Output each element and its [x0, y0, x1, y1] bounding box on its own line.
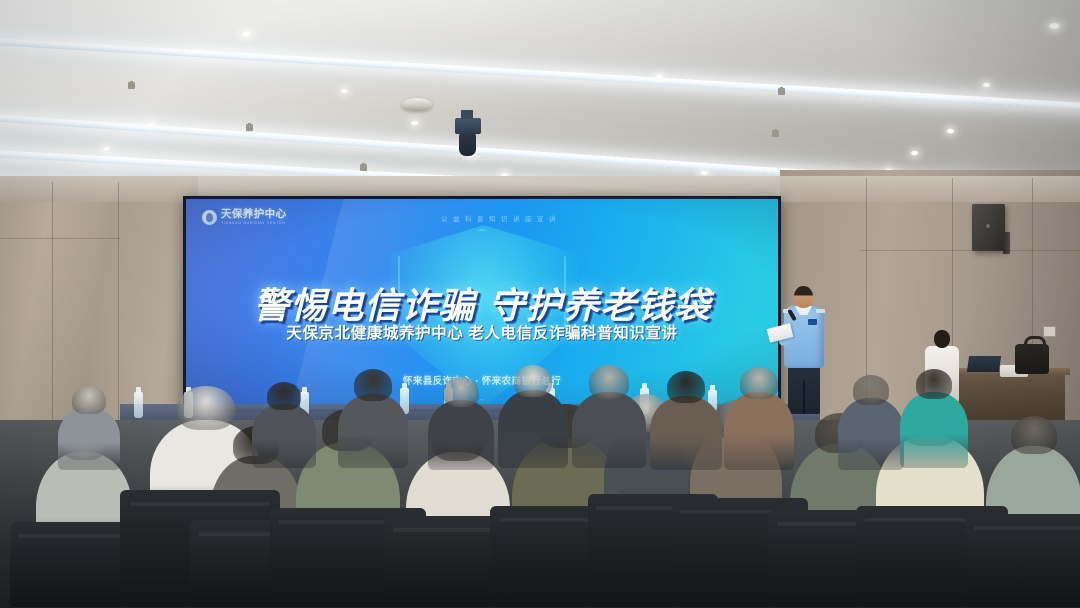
screenshot-root: 天保养护中心 TIANBAO NURSING CENTER 公益科普知识讲座宣讲…	[0, 0, 1080, 608]
speaker-mount-arm	[1003, 232, 1010, 254]
audience-member-head	[72, 386, 106, 414]
downlight	[946, 128, 955, 134]
sprinkler-head	[778, 88, 785, 95]
audience-member-head	[354, 369, 392, 401]
downlight	[982, 82, 991, 88]
downlight	[340, 88, 349, 94]
sprinkler-head	[772, 130, 779, 137]
sprinkler-head	[360, 164, 367, 171]
downlight	[102, 146, 111, 152]
audience-member-head	[740, 367, 778, 399]
chair-back-slot	[974, 526, 1080, 530]
audience-member-head	[267, 382, 301, 410]
chair-back-slot	[130, 502, 271, 506]
audience-member	[58, 408, 120, 470]
sprinkler-head	[246, 124, 253, 131]
presenter-legs	[788, 366, 820, 414]
downlight	[1048, 22, 1061, 30]
downlight	[410, 120, 419, 126]
ceiling-projector	[455, 118, 481, 134]
wall-panel-seam	[0, 238, 120, 239]
audience-member-head	[916, 369, 952, 399]
downlight	[655, 74, 664, 80]
downlight	[910, 150, 919, 156]
audience-member	[428, 400, 494, 470]
audience-member	[252, 404, 316, 468]
side-counter	[955, 372, 1065, 426]
laptop	[967, 356, 1001, 372]
downlight	[240, 30, 253, 38]
audience-member-head	[443, 377, 479, 407]
audience-chair	[966, 514, 1080, 608]
smoke-detector-icon	[402, 98, 432, 111]
audience-member-head	[853, 375, 889, 405]
audience-member	[900, 392, 968, 468]
audience-member-head	[177, 386, 235, 430]
audience-member	[572, 392, 646, 468]
audience-member-head	[1011, 416, 1057, 454]
wall-panel-seam	[860, 250, 1080, 251]
audience-member	[498, 390, 568, 468]
downlight	[146, 122, 155, 128]
presenter-police-officer	[780, 286, 828, 414]
audience-member	[650, 396, 722, 470]
audience-member	[838, 398, 904, 470]
audience-member-head	[589, 365, 629, 399]
wall-speaker	[972, 204, 1005, 251]
presenter-badge	[808, 319, 817, 325]
handbag	[1015, 344, 1049, 374]
wall-panel-seam	[118, 182, 119, 432]
wall-outlet-plate	[1043, 326, 1056, 337]
audience-member-head	[514, 365, 552, 397]
sprinkler-head	[128, 82, 135, 89]
staff-head	[934, 330, 950, 348]
presenter-head	[794, 286, 813, 308]
presenter-shoulder-board	[816, 309, 825, 313]
audience-member	[338, 394, 408, 468]
wall-panel-seam	[52, 182, 53, 432]
audience-member	[724, 392, 794, 470]
audience-member-head	[667, 371, 705, 403]
water-bottle	[134, 392, 143, 418]
